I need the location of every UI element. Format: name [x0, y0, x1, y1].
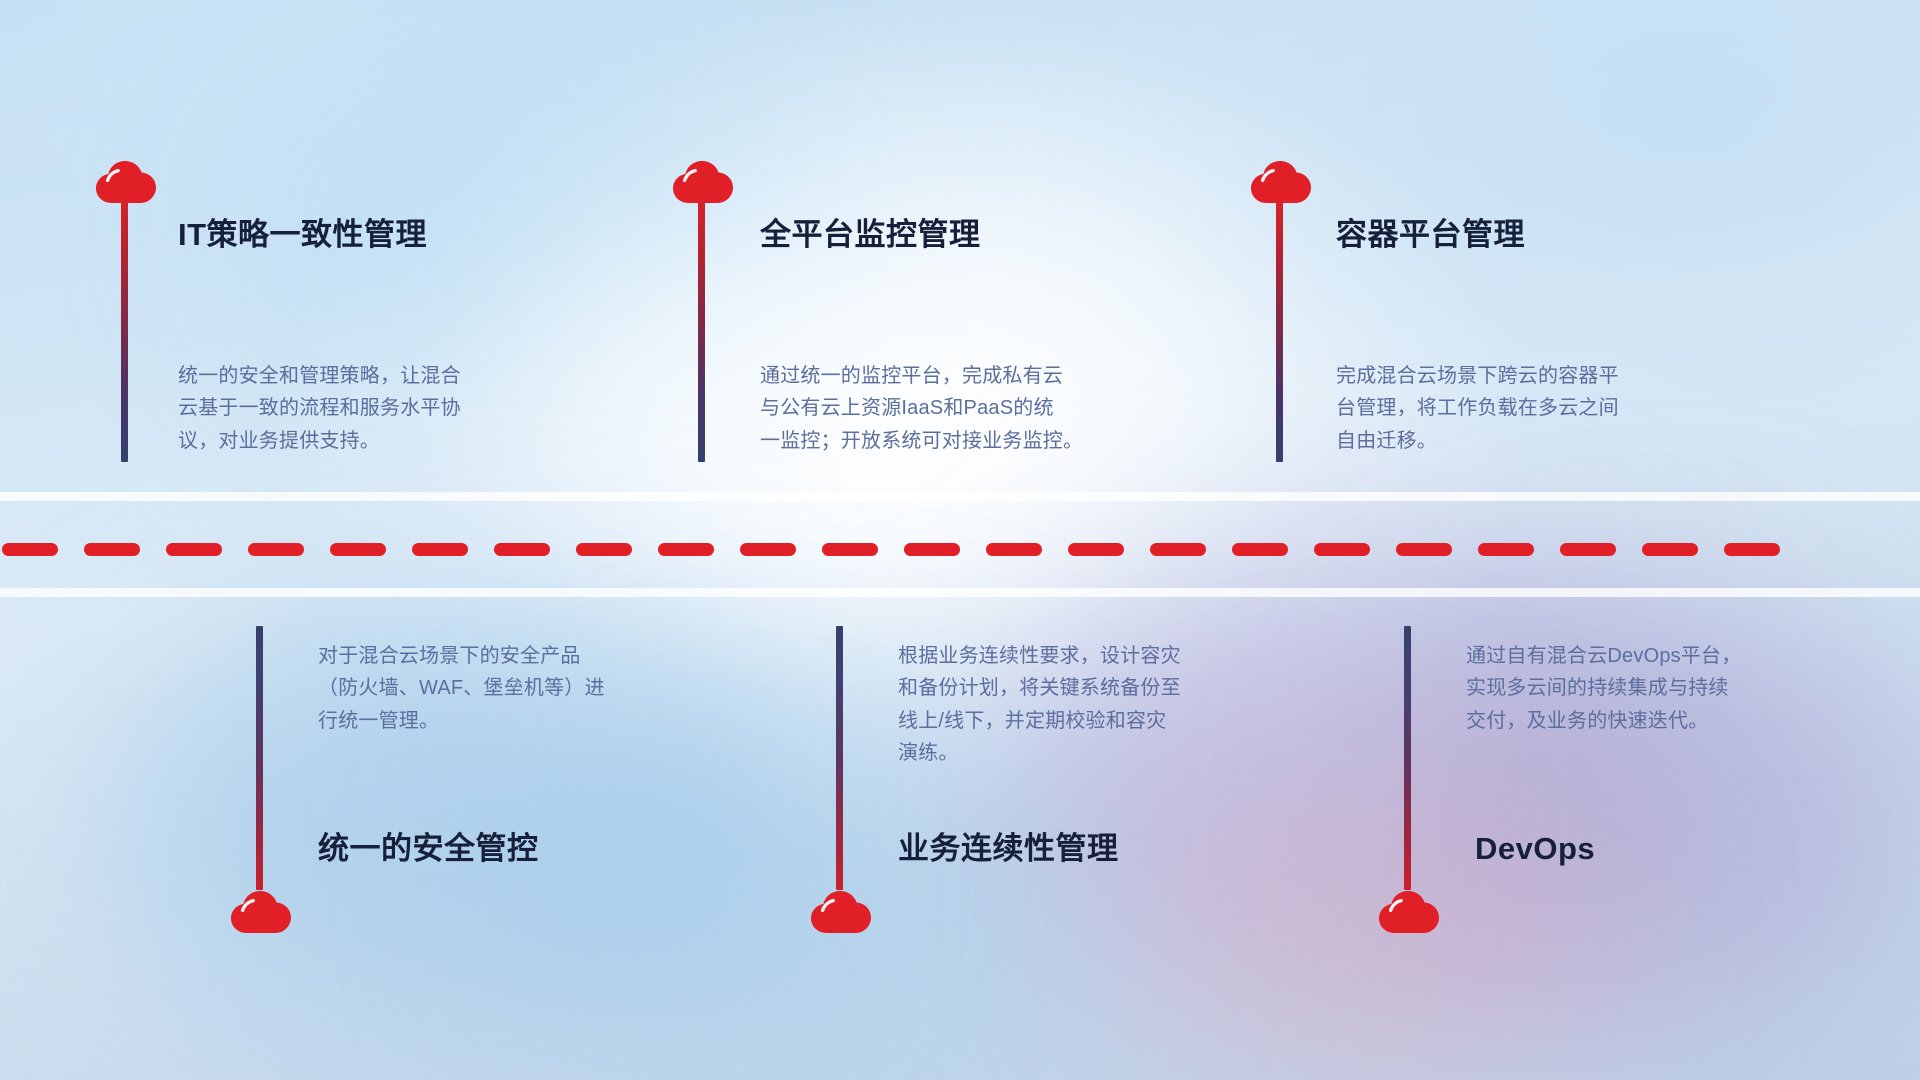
body-line: 根据业务连续性要求，设计容灾	[898, 640, 1298, 672]
divider-dash	[1478, 543, 1534, 556]
body-line: 通过自有混合云DevOps平台，	[1466, 640, 1866, 672]
card-body: 通过自有混合云DevOps平台， 实现多云间的持续集成与持续 交付，及业务的快速…	[1466, 640, 1866, 737]
divider-dash	[2, 543, 58, 556]
divider-dash	[904, 543, 960, 556]
divider-dash	[166, 543, 222, 556]
divider-dashed-line	[0, 543, 1920, 556]
divider-dash	[1724, 543, 1780, 556]
connector-bar	[1404, 626, 1411, 890]
cloud-icon	[95, 160, 157, 204]
card-title: 容器平台管理	[1336, 216, 1525, 253]
body-line: 完成混合云场景下跨云的容器平	[1336, 360, 1736, 392]
divider-dash	[1396, 543, 1452, 556]
divider-dash	[1642, 543, 1698, 556]
cloud-icon	[672, 160, 734, 204]
card-body: 根据业务连续性要求，设计容灾 和备份计划，将关键系统备份至 线上/线下，并定期校…	[898, 640, 1298, 770]
divider-dash	[330, 543, 386, 556]
card-title: IT策略一致性管理	[178, 216, 427, 253]
body-line: （防火墙、WAF、堡垒机等）进	[318, 672, 718, 704]
divider-dash	[822, 543, 878, 556]
divider-dash	[494, 543, 550, 556]
card-body: 统一的安全和管理策略，让混合 云基于一致的流程和服务水平协 议，对业务提供支持。	[178, 360, 578, 457]
body-line: 演练。	[898, 737, 1298, 769]
body-line: 和备份计划，将关键系统备份至	[898, 672, 1298, 704]
divider-band-bottom	[0, 588, 1920, 597]
connector-bar	[698, 200, 705, 462]
body-line: 自由迁移。	[1336, 425, 1736, 457]
body-line: 实现多云间的持续集成与持续	[1466, 672, 1866, 704]
divider-dash	[740, 543, 796, 556]
divider-dash	[1068, 543, 1124, 556]
body-line: 台管理，将工作负载在多云之间	[1336, 392, 1736, 424]
body-line: 议，对业务提供支持。	[178, 425, 578, 457]
body-line: 行统一管理。	[318, 705, 718, 737]
card-title: 业务连续性管理	[898, 830, 1119, 867]
body-line: 一监控；开放系统可对接业务监控。	[760, 425, 1160, 457]
body-line: 通过统一的监控平台，完成私有云	[760, 360, 1160, 392]
body-line: 线上/线下，并定期校验和容灾	[898, 705, 1298, 737]
body-line: 交付，及业务的快速迭代。	[1466, 705, 1866, 737]
card-title: 统一的安全管控	[318, 830, 539, 867]
divider-dash	[1314, 543, 1370, 556]
divider-dash	[248, 543, 304, 556]
body-line: 统一的安全和管理策略，让混合	[178, 360, 578, 392]
divider-dash	[1150, 543, 1206, 556]
connector-bar	[836, 626, 843, 890]
cloud-icon	[1378, 890, 1440, 934]
card-body: 通过统一的监控平台，完成私有云 与公有云上资源IaaS和PaaS的统 一监控；开…	[760, 360, 1160, 457]
divider-dash	[576, 543, 632, 556]
connector-bar	[256, 626, 263, 890]
card-title: 全平台监控管理	[760, 216, 981, 253]
divider-dash	[1232, 543, 1288, 556]
cloud-icon	[230, 890, 292, 934]
divider-dash	[1560, 543, 1616, 556]
divider-dash	[84, 543, 140, 556]
card-body: 完成混合云场景下跨云的容器平 台管理，将工作负载在多云之间 自由迁移。	[1336, 360, 1736, 457]
cloud-icon	[810, 890, 872, 934]
divider-dash	[412, 543, 468, 556]
connector-bar	[1276, 200, 1283, 462]
body-line: 与公有云上资源IaaS和PaaS的统	[760, 392, 1160, 424]
card-body: 对于混合云场景下的安全产品 （防火墙、WAF、堡垒机等）进 行统一管理。	[318, 640, 718, 737]
infographic-canvas: IT策略一致性管理 统一的安全和管理策略，让混合 云基于一致的流程和服务水平协 …	[0, 0, 1920, 1080]
body-line: 对于混合云场景下的安全产品	[318, 640, 718, 672]
divider-band-top	[0, 492, 1920, 501]
divider-dash	[658, 543, 714, 556]
connector-bar	[121, 200, 128, 462]
cloud-icon	[1250, 160, 1312, 204]
background-blob-lavender-center	[1000, 560, 1700, 990]
body-line: 云基于一致的流程和服务水平协	[178, 392, 578, 424]
divider-dash	[986, 543, 1042, 556]
card-title: DevOps	[1475, 830, 1595, 867]
